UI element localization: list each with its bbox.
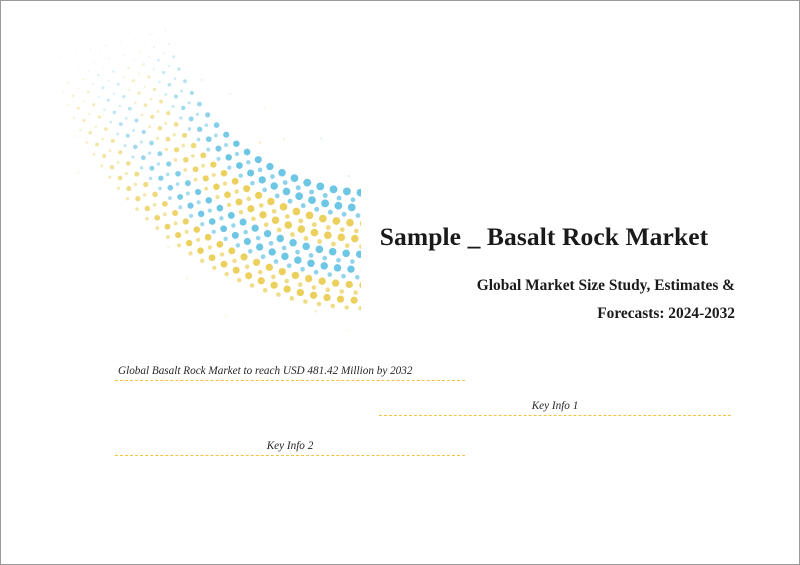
key-info-2-text: Key Info 2 xyxy=(115,439,465,455)
key-info-1-row: Key Info 1 xyxy=(379,399,731,416)
key-info-1-text: Key Info 1 xyxy=(379,399,731,415)
key-info-2-row: Key Info 2 xyxy=(115,439,465,456)
report-cover-page: Sample _ Basalt Rock Market Global Marke… xyxy=(0,0,800,565)
key-info-1-underline xyxy=(379,415,731,416)
headline-underline xyxy=(115,380,465,381)
key-info-2-underline xyxy=(115,455,465,456)
page-subtitle-line-2: Forecasts: 2024-2032 xyxy=(353,300,735,328)
page-title: Sample _ Basalt Rock Market xyxy=(353,223,735,251)
halftone-dot-swoosh-decoration xyxy=(1,1,361,331)
page-subtitle: Global Market Size Study, Estimates & Fo… xyxy=(353,251,735,328)
title-block: Sample _ Basalt Rock Market Global Marke… xyxy=(353,223,735,328)
headline-text: Global Basalt Rock Market to reach USD 4… xyxy=(115,364,465,380)
page-subtitle-line-1: Global Market Size Study, Estimates & xyxy=(353,272,735,300)
headline-row: Global Basalt Rock Market to reach USD 4… xyxy=(115,364,465,381)
